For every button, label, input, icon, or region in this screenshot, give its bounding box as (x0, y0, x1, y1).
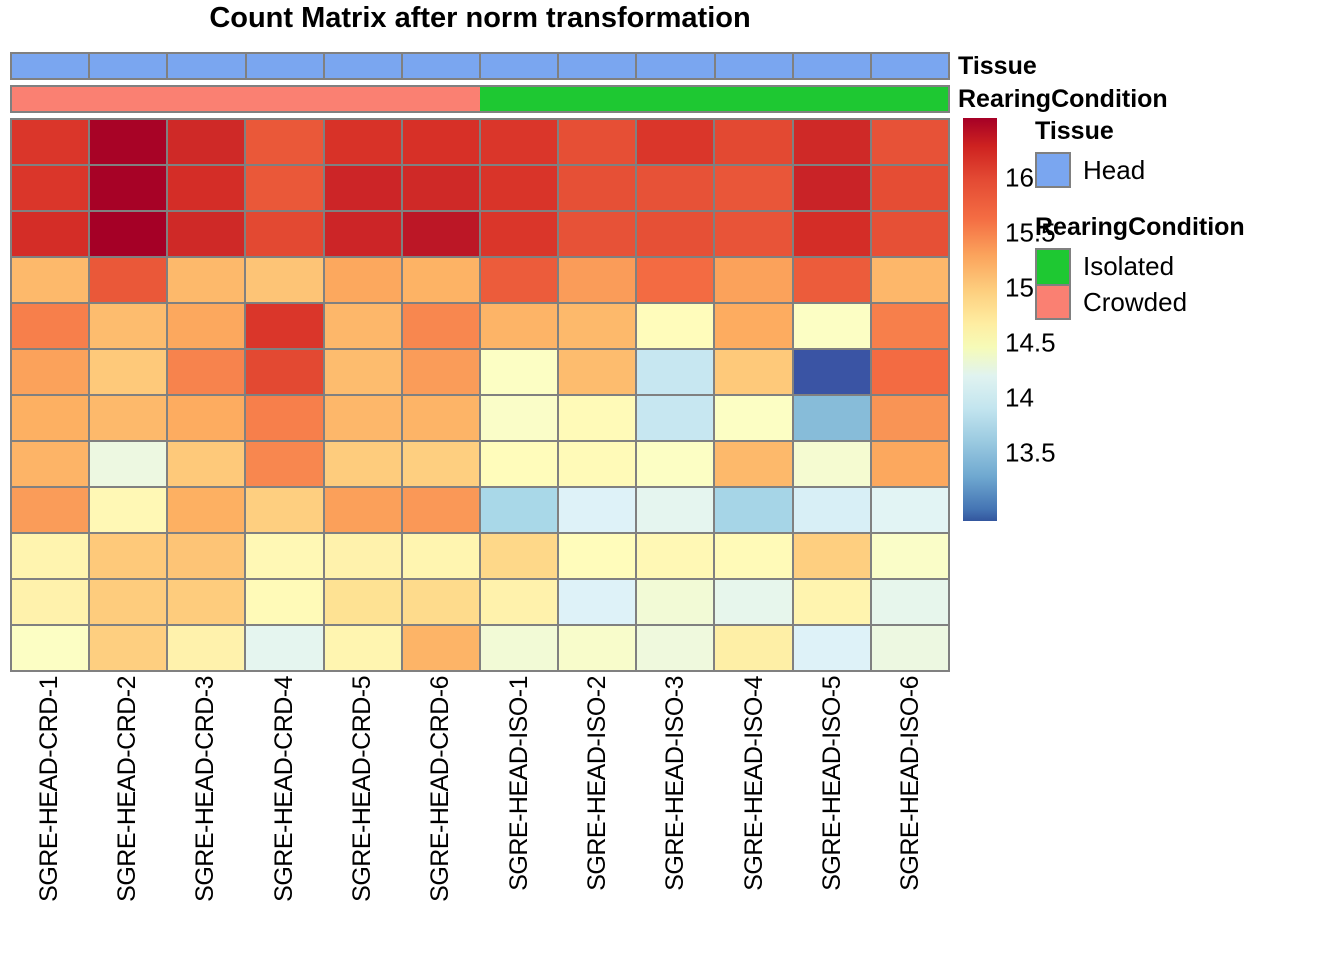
heatmap-cell (559, 626, 635, 670)
heatmap-cell (90, 304, 166, 348)
heatmap-cell (715, 534, 791, 578)
annotation-cell-tissue (559, 54, 637, 78)
heatmap-cell (715, 488, 791, 532)
heatmap-cell (637, 120, 713, 164)
heatmap-cell (559, 350, 635, 394)
column-label: SGRE-HEAD-ISO-4 (715, 676, 793, 956)
annotation-cell-tissue (403, 54, 481, 78)
column-label: SGRE-HEAD-ISO-2 (558, 676, 636, 956)
heatmap-cell (246, 350, 322, 394)
legend-item-isolated[interactable]: Isolated (1035, 248, 1187, 284)
column-label: SGRE-HEAD-CRD-5 (323, 676, 401, 956)
heatmap-cell (481, 166, 557, 210)
heatmap-cell (325, 396, 401, 440)
annotation-cell-tissue (872, 54, 948, 78)
heatmap-cell (12, 120, 88, 164)
heatmap-cell (12, 580, 88, 624)
heatmap-cell (559, 258, 635, 302)
heatmap-cell (872, 488, 948, 532)
heatmap-cell (403, 626, 479, 670)
heatmap-cell (12, 396, 88, 440)
column-label-text: SGRE-HEAD-CRD-5 (348, 676, 377, 902)
legend-label-crowded: Crowded (1083, 287, 1187, 318)
heatmap-cell (715, 212, 791, 256)
legend-swatch-crowded (1035, 284, 1071, 320)
column-label-text: SGRE-HEAD-ISO-4 (740, 676, 769, 891)
heatmap-cell (12, 258, 88, 302)
heatmap-cell (872, 534, 948, 578)
heatmap-cell (637, 258, 713, 302)
heatmap-cell (715, 258, 791, 302)
heatmap-cell (637, 304, 713, 348)
heatmap-cell (559, 304, 635, 348)
heatmap-cell (403, 258, 479, 302)
heatmap-cell (481, 626, 557, 670)
heatmap-cell (246, 212, 322, 256)
heatmap-cell (168, 166, 244, 210)
heatmap-cell (794, 442, 870, 486)
heatmap-cell (481, 350, 557, 394)
column-label-text: SGRE-HEAD-CRD-2 (113, 676, 142, 902)
page-title: Count Matrix after norm transformation (0, 2, 960, 35)
heatmap-cell (246, 442, 322, 486)
heatmap-cell (872, 396, 948, 440)
heatmap-cell (637, 626, 713, 670)
heatmap-cell (246, 580, 322, 624)
heatmap-cell (325, 442, 401, 486)
heatmap-cell (168, 580, 244, 624)
heatmap-cell (637, 212, 713, 256)
heatmap-cell (872, 258, 948, 302)
heatmap-cell (325, 258, 401, 302)
heatmap-cell (637, 350, 713, 394)
heatmap-cell (403, 212, 479, 256)
heatmap-cell (12, 442, 88, 486)
heatmap-cell (90, 166, 166, 210)
heatmap-cell (481, 442, 557, 486)
annotation-cell-tissue (12, 54, 90, 78)
heatmap-cell (794, 166, 870, 210)
heatmap-cell (794, 396, 870, 440)
heatmap-cell (872, 166, 948, 210)
heatmap-cell (715, 442, 791, 486)
colorbar-tick-label: 13.5 (1005, 438, 1056, 469)
heatmap-cell (481, 396, 557, 440)
heatmap-cell (403, 120, 479, 164)
heatmap-cell (168, 442, 244, 486)
heatmap-cell (168, 396, 244, 440)
column-label: SGRE-HEAD-CRD-4 (245, 676, 323, 956)
heatmap-cell (481, 488, 557, 532)
heatmap-cell (90, 258, 166, 302)
heatmap-cell (872, 580, 948, 624)
heatmap-cell (872, 120, 948, 164)
heatmap-cell (90, 350, 166, 394)
heatmap-cell (559, 396, 635, 440)
heatmap-cell (637, 166, 713, 210)
column-label: SGRE-HEAD-ISO-1 (480, 676, 558, 956)
legend-title-tissue: Tissue (1035, 117, 1114, 146)
heatmap-cell (715, 580, 791, 624)
annotation-segment-isolated (480, 87, 948, 111)
heatmap-cell (637, 442, 713, 486)
heatmap-cell (168, 258, 244, 302)
column-label-text: SGRE-HEAD-CRD-6 (426, 676, 455, 902)
heatmap-cell (403, 350, 479, 394)
heatmap-cell (403, 580, 479, 624)
heatmap-cell (872, 626, 948, 670)
heatmap-cell (325, 166, 401, 210)
column-label: SGRE-HEAD-ISO-5 (793, 676, 871, 956)
heatmap-cell (168, 120, 244, 164)
heatmap-cell (559, 580, 635, 624)
heatmap-cell (168, 534, 244, 578)
annotation-cell-tissue (325, 54, 403, 78)
annotation-cell-tissue (90, 54, 168, 78)
heatmap-cell (794, 304, 870, 348)
colorbar-tick-label: 14 (1005, 383, 1034, 414)
heatmap-cell (90, 626, 166, 670)
heatmap-cell (715, 626, 791, 670)
heatmap-cell (325, 120, 401, 164)
annotation-bar-rearingcondition (10, 85, 950, 113)
annotation-cell-tissue (794, 54, 872, 78)
heatmap-cell (168, 488, 244, 532)
heatmap-cell (794, 212, 870, 256)
legend-swatch-isolated (1035, 248, 1071, 284)
annotation-cell-tissue (247, 54, 325, 78)
colorbar-tick-label: 16 (1005, 163, 1034, 194)
heatmap-cell (637, 580, 713, 624)
column-label: SGRE-HEAD-ISO-3 (637, 676, 715, 956)
heatmap-cell (246, 396, 322, 440)
column-label: SGRE-HEAD-CRD-2 (88, 676, 166, 956)
heatmap-cell (481, 304, 557, 348)
heatmap-cell (246, 120, 322, 164)
heatmap-cell (168, 350, 244, 394)
heatmap-cell (168, 304, 244, 348)
colorbar-tick-label: 15 (1005, 273, 1034, 304)
heatmap-cell (715, 350, 791, 394)
heatmap-cell (403, 166, 479, 210)
column-label-text: SGRE-HEAD-ISO-3 (661, 676, 690, 891)
heatmap-cell (325, 534, 401, 578)
heatmap-cell (559, 166, 635, 210)
heatmap-cell (872, 350, 948, 394)
heatmap-cell (12, 534, 88, 578)
heatmap-cell (90, 580, 166, 624)
heatmap-cell (794, 350, 870, 394)
column-label-text: SGRE-HEAD-CRD-3 (191, 676, 220, 902)
column-label-text: SGRE-HEAD-ISO-1 (505, 676, 534, 891)
heatmap-cell (872, 442, 948, 486)
heatmap-cell (246, 534, 322, 578)
heatmap-cell (12, 166, 88, 210)
heatmap-cell (794, 580, 870, 624)
heatmap-cell (872, 212, 948, 256)
legend-swatch-head (1035, 152, 1071, 188)
heatmap-cell (403, 534, 479, 578)
heatmap-cell (403, 304, 479, 348)
annotation-cell-tissue (481, 54, 559, 78)
heatmap-cell (90, 534, 166, 578)
heatmap-cell (168, 212, 244, 256)
heatmap-cell (481, 212, 557, 256)
legend-item-head[interactable]: Head (1035, 152, 1145, 188)
heatmap-cell (246, 304, 322, 348)
column-label: SGRE-HEAD-ISO-6 (872, 676, 950, 956)
heatmap-cell (637, 396, 713, 440)
annotation-label-rearingcondition: RearingCondition (958, 85, 1168, 113)
column-label-text: SGRE-HEAD-CRD-4 (270, 676, 299, 902)
heatmap-cell (325, 304, 401, 348)
annotation-cell-tissue (637, 54, 715, 78)
heatmap-cell (481, 580, 557, 624)
annotation-label-tissue: Tissue (958, 52, 1037, 80)
legend-items-rearingcondition: Isolated Crowded (1035, 248, 1187, 320)
heatmap-cell (559, 212, 635, 256)
heatmap-cell (90, 212, 166, 256)
heatmap-cell (325, 488, 401, 532)
heatmap-cell (168, 626, 244, 670)
legend-item-crowded[interactable]: Crowded (1035, 284, 1187, 320)
heatmap-cell (325, 350, 401, 394)
heatmap-cell (794, 120, 870, 164)
column-label-text: SGRE-HEAD-ISO-6 (896, 676, 925, 891)
column-label-text: SGRE-HEAD-ISO-5 (818, 676, 847, 891)
heatmap-cell (325, 212, 401, 256)
column-label-text: SGRE-HEAD-CRD-1 (35, 676, 64, 902)
heatmap-cell (403, 442, 479, 486)
column-label: SGRE-HEAD-CRD-3 (167, 676, 245, 956)
column-label-text: SGRE-HEAD-ISO-2 (583, 676, 612, 891)
heatmap-cell (794, 626, 870, 670)
heatmap-cell (481, 534, 557, 578)
heatmap-cell (403, 488, 479, 532)
heatmap-cell (246, 258, 322, 302)
heatmap-cell (715, 304, 791, 348)
heatmap-cell (872, 304, 948, 348)
heatmap-cell (715, 396, 791, 440)
heatmap-cell (481, 120, 557, 164)
heatmap-cell (246, 166, 322, 210)
heatmap-cell (325, 580, 401, 624)
heatmap-cell (90, 488, 166, 532)
heatmap-cell (403, 396, 479, 440)
heatmap-cell (12, 350, 88, 394)
heatmap-grid (10, 118, 950, 672)
annotation-cell-tissue (168, 54, 246, 78)
annotation-cell-tissue (716, 54, 794, 78)
heatmap-cell (246, 626, 322, 670)
heatmap-cell (12, 212, 88, 256)
heatmap-cell (559, 120, 635, 164)
heatmap-cell (559, 488, 635, 532)
heatmap-cell (637, 534, 713, 578)
heatmap-cell (794, 258, 870, 302)
heatmap-cell (12, 488, 88, 532)
heatmap-cell (794, 488, 870, 532)
heatmap-cell (90, 442, 166, 486)
heatmap-cell (12, 626, 88, 670)
annotation-bar-tissue (10, 52, 950, 80)
colorbar-gradient (963, 118, 997, 521)
heatmap-cell (90, 396, 166, 440)
heatmap-cell (559, 534, 635, 578)
heatmap-cell (794, 534, 870, 578)
heatmap-cell (325, 626, 401, 670)
annotation-segment-crowded (12, 87, 480, 111)
heatmap-cell (90, 120, 166, 164)
colorbar-tick-label: 14.5 (1005, 328, 1056, 359)
legend-label-head: Head (1083, 155, 1145, 186)
column-label: SGRE-HEAD-CRD-6 (402, 676, 480, 956)
heatmap-cell (715, 166, 791, 210)
heatmap-cell (481, 258, 557, 302)
heatmap-cell (12, 304, 88, 348)
heatmap-cell (637, 488, 713, 532)
heatmap-cell (715, 120, 791, 164)
heatmap-cell (559, 442, 635, 486)
colorbar (963, 118, 997, 521)
legend-title-rearingcondition: RearingCondition (1035, 213, 1245, 242)
column-label: SGRE-HEAD-CRD-1 (10, 676, 88, 956)
legend-label-isolated: Isolated (1083, 251, 1174, 282)
column-labels: SGRE-HEAD-CRD-1SGRE-HEAD-CRD-2SGRE-HEAD-… (10, 676, 950, 956)
heatmap-cell (246, 488, 322, 532)
